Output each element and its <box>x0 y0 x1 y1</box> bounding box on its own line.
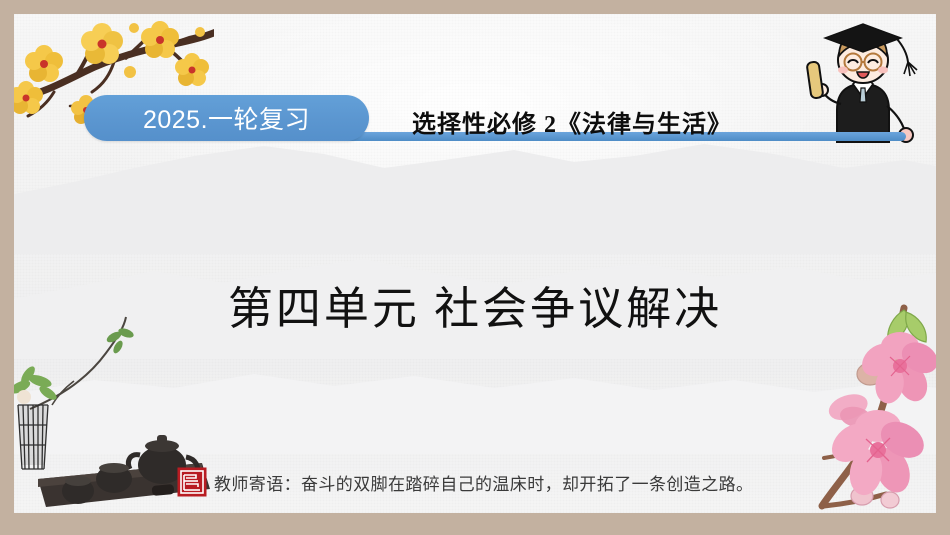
teacher-message-text: 教师寄语：奋斗的双脚在踏碎自己的温床时，却开拓了一条创造之路。 <box>214 470 753 495</box>
slide-root: 2025.一轮复习 选择性必修 2《法律与生活》 第四单元 社会争议解决 教师寄… <box>0 0 950 535</box>
mountain-silhouette-far <box>14 134 936 254</box>
peach-flower-upper <box>856 332 936 406</box>
teacher-message-block: 教师寄语：奋斗的双脚在踏碎自己的温床时，却开拓了一条创造之路。 <box>177 467 753 497</box>
review-year-badge-label: 2025.一轮复习 <box>143 100 310 136</box>
red-seal-stamp-icon <box>177 467 207 497</box>
peach-flower-lower <box>824 410 930 498</box>
slide-paper-background: 2025.一轮复习 选择性必修 2《法律与生活》 第四单元 社会争议解决 教师寄… <box>14 14 936 513</box>
subject-title: 选择性必修 2《法律与生活》 <box>412 104 732 139</box>
graduate-student-character <box>801 18 926 146</box>
unit-title: 第四单元 社会争议解决 <box>14 272 936 337</box>
review-year-badge[interactable]: 2025.一轮复习 <box>84 95 369 141</box>
